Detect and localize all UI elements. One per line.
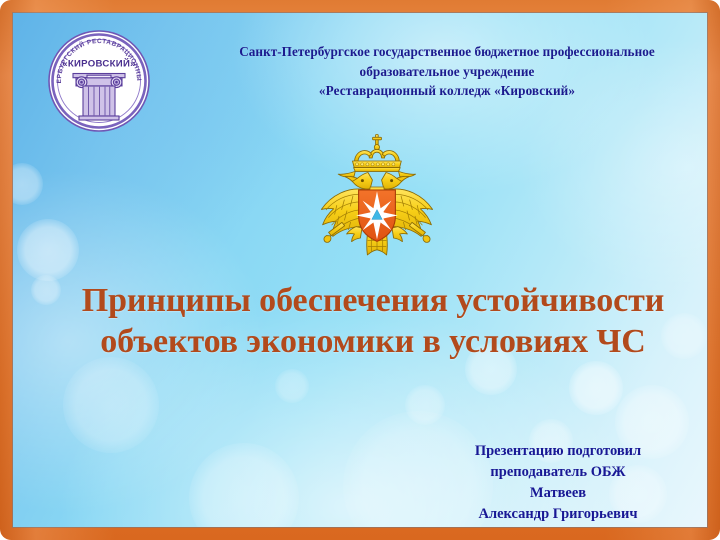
college-seal-logo: САНКТ-ПЕТЕРБУРГСКИЙ РЕСТАВРАЦИОННЫЙ КОЛЛ…	[47, 29, 151, 133]
seal-center-text: «КИРОВСКИЙ»	[62, 58, 136, 70]
bokeh-circle	[63, 357, 159, 453]
slide-canvas: САНКТ-ПЕТЕРБУРГСКИЙ РЕСТАВРАЦИОННЫЙ КОЛЛ…	[13, 13, 707, 527]
bokeh-circle	[17, 219, 79, 281]
bokeh-circle	[13, 163, 43, 205]
author-line-4: Александр Григорьевич	[413, 504, 703, 525]
bokeh-circle	[275, 369, 309, 403]
bokeh-circle	[405, 385, 445, 425]
institution-line-3: «Реставрационный колледж «Кировский»	[173, 81, 707, 101]
emercom-eagle-emblem	[306, 128, 448, 270]
slide-title: Принципы обеспечения устойчивости объект…	[33, 280, 707, 362]
presentation-slide: САНКТ-ПЕТЕРБУРГСКИЙ РЕСТАВРАЦИОННЫЙ КОЛЛ…	[0, 0, 720, 540]
slide-title-line-1: Принципы обеспечения устойчивости	[33, 280, 707, 321]
author-credit: Презентацию подготовил преподаватель ОБЖ…	[413, 441, 703, 525]
institution-line-2: образовательное учреждение	[173, 62, 707, 82]
author-line-1: Презентацию подготовил	[413, 441, 703, 462]
bokeh-circle	[189, 443, 299, 527]
institution-line-1: Санкт-Петербургское государственное бюдж…	[173, 42, 707, 62]
institution-header: Санкт-Петербургское государственное бюдж…	[173, 42, 707, 101]
author-line-3: Матвеев	[413, 483, 703, 504]
bokeh-circle	[569, 361, 623, 415]
slide-title-line-2: объектов экономики в условиях ЧС	[33, 321, 707, 362]
author-line-2: преподаватель ОБЖ	[413, 462, 703, 483]
